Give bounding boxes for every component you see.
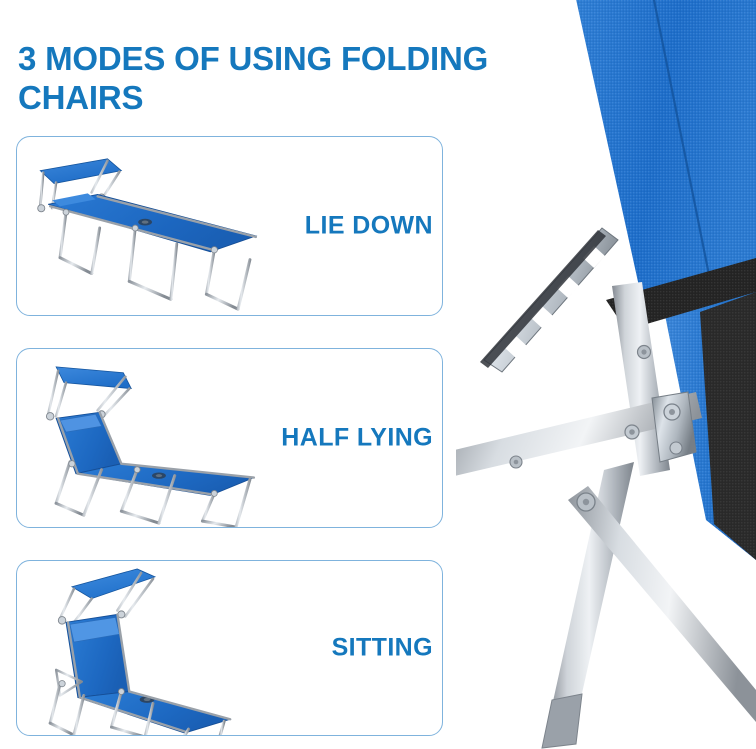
mode-label-half-lying: HALF LYING bbox=[281, 424, 433, 453]
mode-label-sitting: SITTING bbox=[332, 634, 433, 663]
lounger-canopy bbox=[56, 367, 131, 389]
canopy-pivot-left bbox=[38, 205, 45, 212]
folding-lounger-flat-illustration bbox=[25, 141, 283, 316]
folding-lounger-upright-illustration bbox=[25, 565, 283, 736]
hero-hinge-plate bbox=[652, 392, 696, 462]
canopy-pivot-left bbox=[46, 413, 54, 421]
canopy-pivot-left bbox=[58, 617, 66, 625]
mode-card-half-lying[interactable]: HALF LYING bbox=[16, 348, 443, 528]
mode-label-lie-down: LIE DOWN bbox=[305, 212, 433, 241]
folding-lounger-reclined-illustration bbox=[25, 353, 283, 528]
lounger-canopy bbox=[40, 159, 121, 184]
lounger-bed-flat bbox=[48, 193, 256, 251]
mode-card-sitting[interactable]: SITTING bbox=[16, 560, 443, 736]
hero-notched-adjustment-bracket bbox=[480, 228, 618, 372]
mode-card-lie-down[interactable]: LIE DOWN bbox=[16, 136, 443, 316]
page-title: 3 MODES OF USING FOLDING CHAIRS bbox=[18, 40, 558, 118]
